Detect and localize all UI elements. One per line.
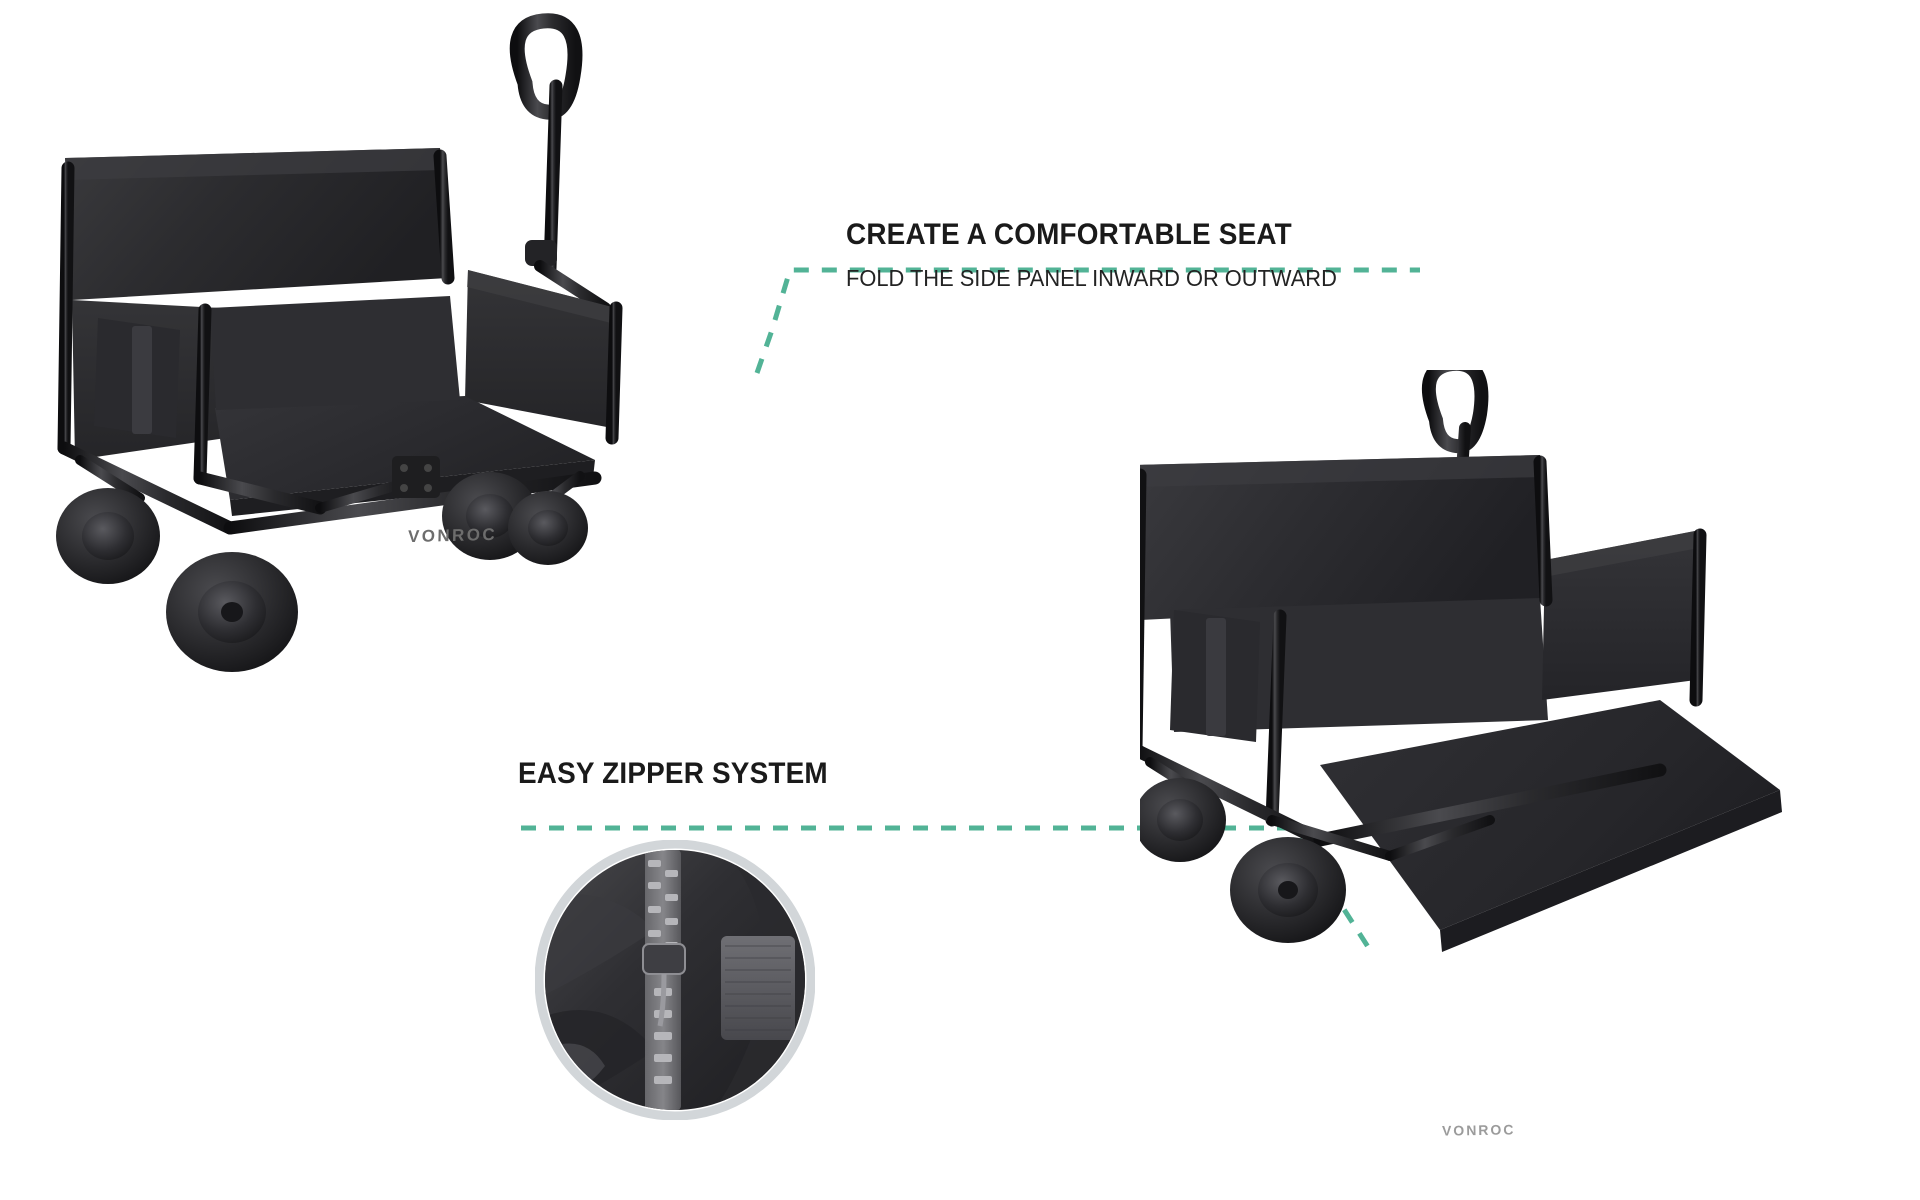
brand-logo-on-floor: VONROC	[408, 525, 498, 547]
infographic-canvas: VONROC	[0, 0, 1920, 1200]
wheel-front-right	[508, 491, 588, 565]
wheel-front-left	[166, 552, 298, 672]
callout-easy-zipper-system: EASY ZIPPER SYSTEM	[518, 757, 851, 791]
zipper-detail-closeup	[535, 840, 815, 1120]
callout-title-seat: CREATE A COMFORTABLE SEAT	[846, 218, 1327, 252]
velcro-strip	[721, 936, 795, 1040]
wagon-side-panel-folded-inward	[20, 8, 780, 708]
callout-title-zipper: EASY ZIPPER SYSTEM	[518, 757, 828, 791]
side-pocket	[94, 318, 180, 438]
brand-logo-on-floor-secondary: VONROC	[1442, 1121, 1516, 1138]
wheel-front-left	[1230, 837, 1346, 943]
pull-handle	[517, 21, 605, 308]
callout-create-a-comfortable-seat: CREATE A COMFORTABLE SEAT FOLD THE SIDE …	[846, 218, 1363, 292]
callout-subtitle-seat: FOLD THE SIDE PANEL INWARD OR OUTWARD	[846, 265, 1337, 292]
side-pocket	[1170, 610, 1260, 742]
wagon-side-panel-folded-outward	[1140, 370, 1920, 1200]
axle-bracket	[392, 456, 440, 498]
wheel-rear-left	[56, 488, 160, 584]
zipper-slider	[643, 944, 685, 974]
